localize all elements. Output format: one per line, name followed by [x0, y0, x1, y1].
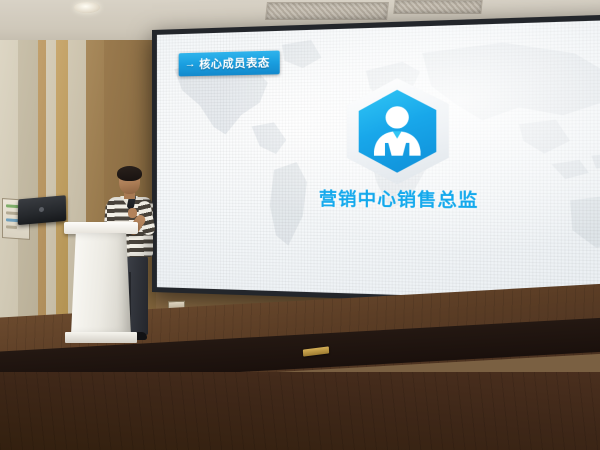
slide-banner-tag: → 核心成员表态 [179, 51, 280, 77]
wall-panel [0, 40, 18, 350]
air-vent-icon [265, 2, 389, 20]
laptop-icon [18, 195, 66, 225]
notice-line [6, 225, 17, 229]
lectern [68, 222, 134, 344]
projection-screen: → 核心成员表态 营销中心销售总监 [152, 12, 600, 309]
person-badge-icon [359, 89, 437, 173]
recessed-downlight-icon [74, 2, 100, 13]
lectern-body [71, 233, 131, 335]
air-vent-icon [393, 0, 482, 14]
lectern-top [64, 222, 138, 234]
floor [0, 372, 600, 450]
presenter-hand-right [128, 208, 137, 218]
wall-panel [18, 40, 38, 350]
slide-banner-label: 核心成员表态 [199, 54, 270, 72]
slide-badge [347, 77, 449, 185]
screen-surface: → 核心成员表态 营销中心销售总监 [157, 18, 600, 303]
presenter-hair [117, 166, 142, 181]
lectern-base [65, 332, 137, 343]
presentation-scene: → 核心成员表态 营销中心销售总监 [0, 0, 600, 450]
wall-panel [38, 40, 46, 350]
arrow-right-icon: → [185, 58, 197, 69]
floor-wood-grain [0, 372, 600, 450]
wall-panel [46, 40, 56, 350]
